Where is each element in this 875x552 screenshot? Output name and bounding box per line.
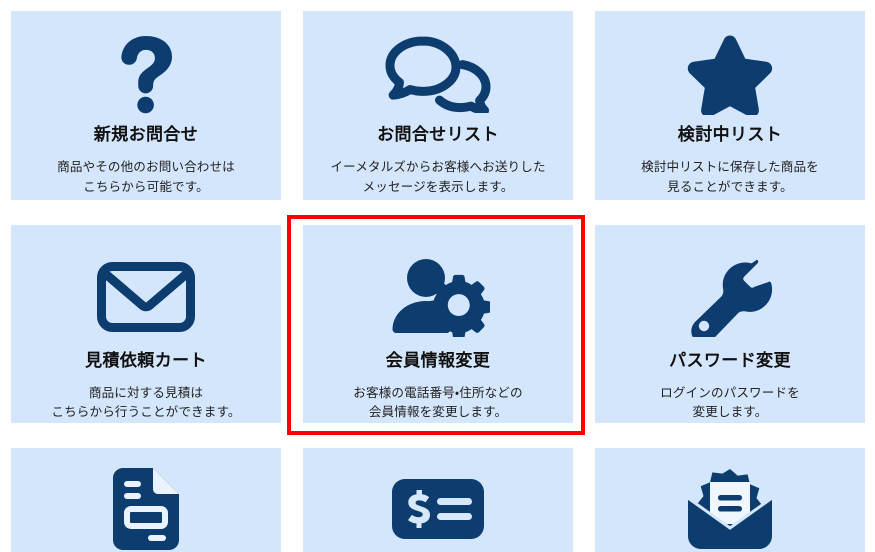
menu-tile-password-change[interactable]: パスワード変更 ログインのパスワードを 変更します。 <box>595 225 865 423</box>
star-icon <box>595 11 865 119</box>
tile-title: 会員情報変更 <box>386 351 490 371</box>
tile-title: パスワード変更 <box>669 351 791 371</box>
tile-title: 検討中リスト <box>678 125 782 145</box>
member-menu-grid: 新規お問合せ 商品やその他のお問い合わせは こちらから可能です。 お問合せリスト… <box>0 0 875 551</box>
tile-description: 商品に対する見積は こちらから行うことができます。 <box>51 384 240 423</box>
open-mail-icon <box>595 448 865 552</box>
menu-tile-member-info-change[interactable]: 会員情報変更 お客様の電話番号・住所などの 会員情報を変更します。 <box>303 225 573 423</box>
tile-description: ログインのパスワードを 変更します。 <box>660 384 800 423</box>
user-gear-icon <box>303 225 573 347</box>
tile-title: お問合せリスト <box>377 125 499 145</box>
tile-description: 商品やその他のお問い合わせは こちらから可能です。 <box>57 158 235 197</box>
menu-tile-inquiry-list[interactable]: お問合せリスト イーメタルズからお客様へお送りした メッセージを表示します。 <box>303 11 573 200</box>
menu-tile-invoice[interactable] <box>303 448 573 552</box>
wrench-icon <box>595 225 865 347</box>
envelope-icon <box>11 225 281 347</box>
question-mark-icon <box>11 11 281 119</box>
invoice-dollar-icon <box>303 448 573 552</box>
tile-description: お客様の電話番号・住所などの 会員情報を変更します。 <box>353 384 522 423</box>
document-icon <box>11 448 281 552</box>
menu-tile-new-inquiry[interactable]: 新規お問合せ 商品やその他のお問い合わせは こちらから可能です。 <box>11 11 281 200</box>
tile-description: 検討中リストに保存した商品を 見ることができます。 <box>641 158 819 197</box>
menu-tile-watchlist[interactable]: 検討中リスト 検討中リストに保存した商品を 見ることができます。 <box>595 11 865 200</box>
speech-bubbles-icon <box>303 11 573 119</box>
tile-title: 見積依頼カート <box>85 351 207 371</box>
tile-description: イーメタルズからお客様へお送りした メッセージを表示します。 <box>330 158 545 197</box>
menu-tile-document[interactable] <box>11 448 281 552</box>
menu-tile-quote-cart[interactable]: 見積依頼カート 商品に対する見積は こちらから行うことができます。 <box>11 225 281 423</box>
tile-title: 新規お問合せ <box>94 125 198 145</box>
menu-tile-open-mail[interactable] <box>595 448 865 552</box>
